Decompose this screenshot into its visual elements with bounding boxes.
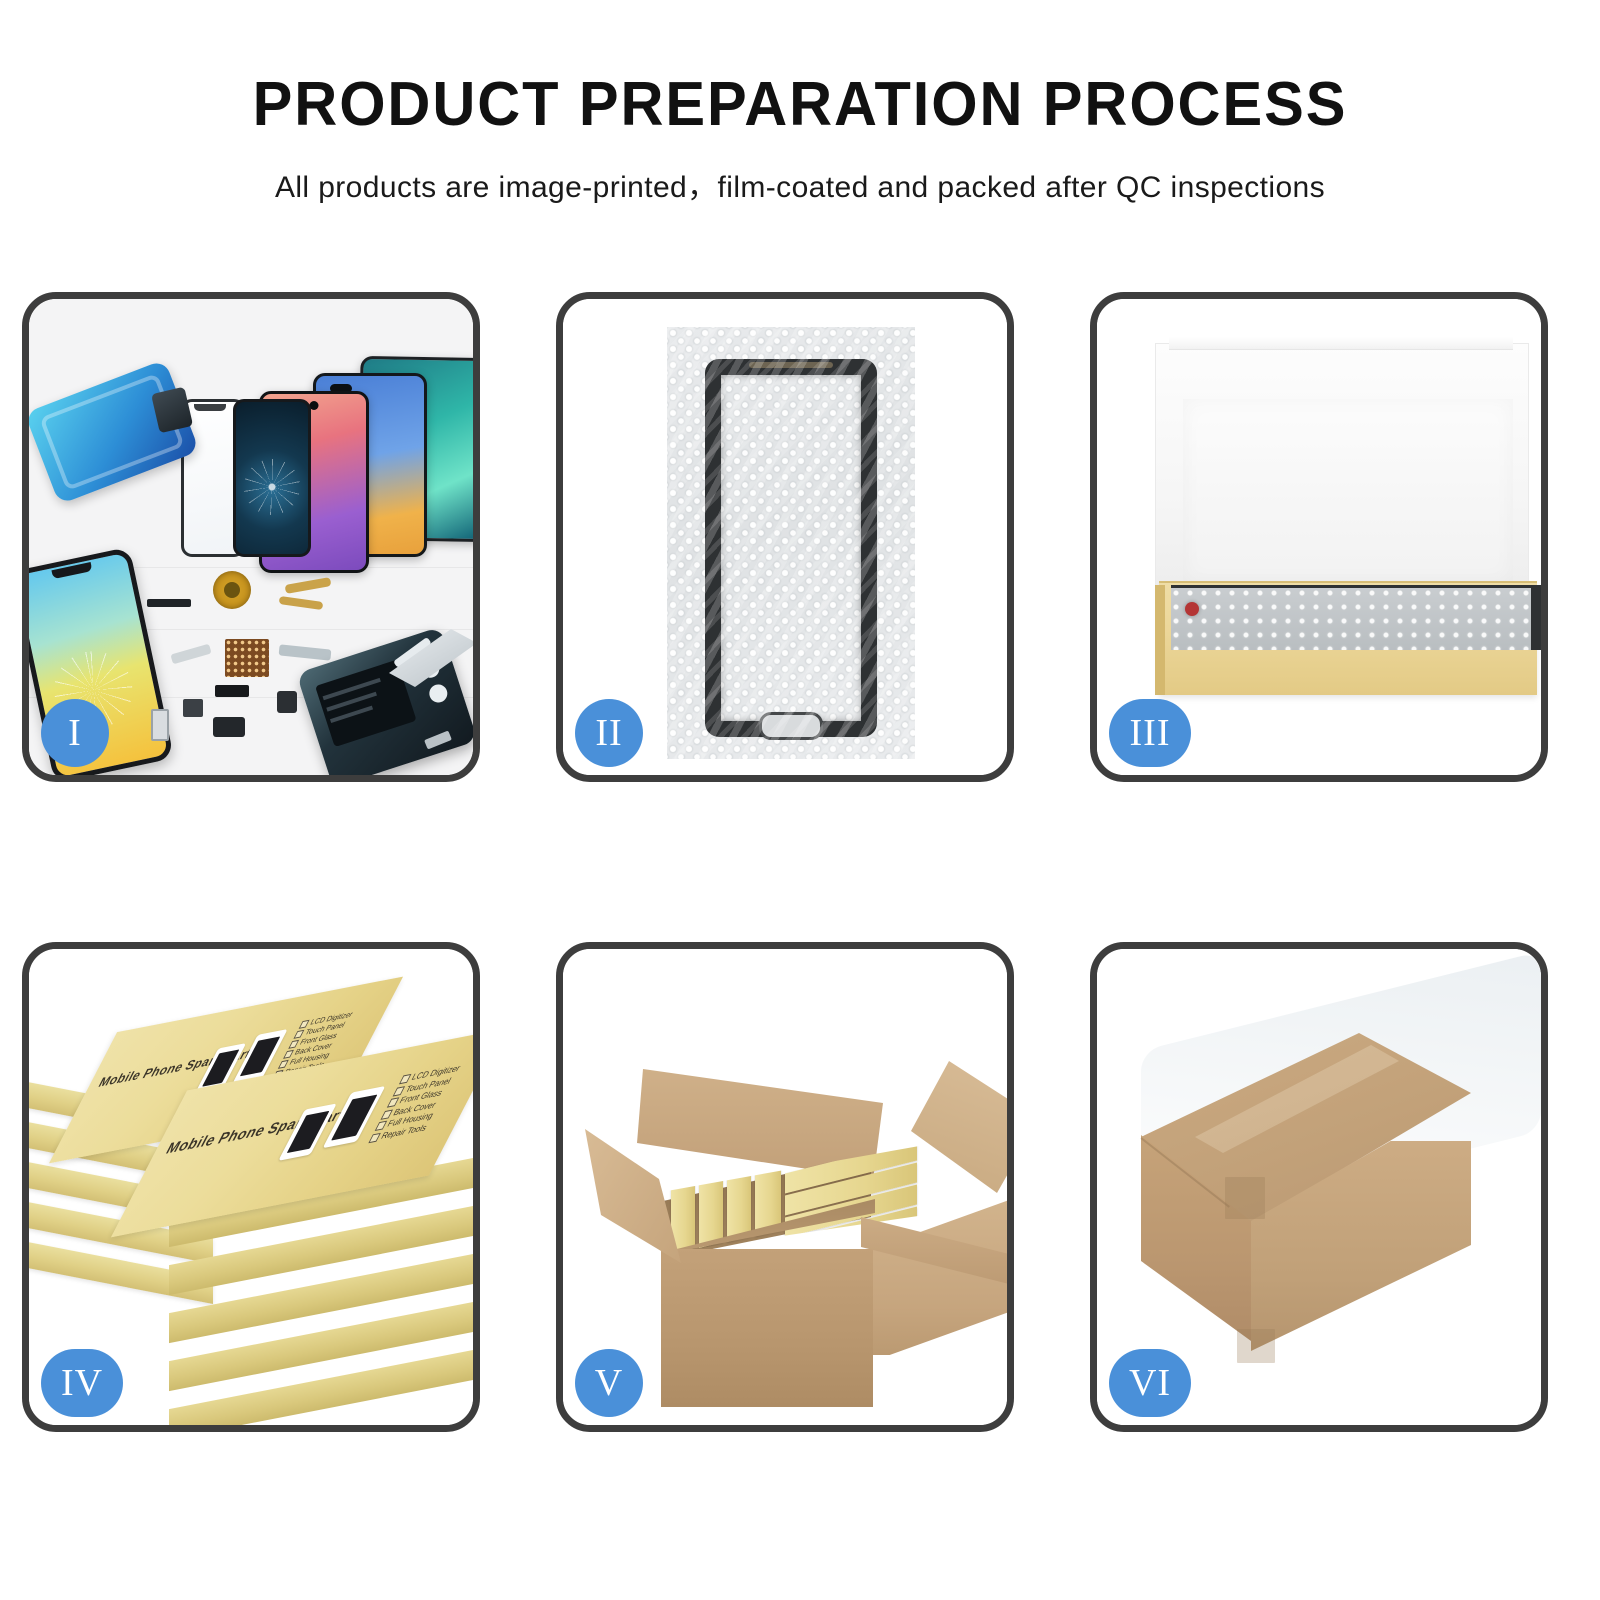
panel-5-photo [563, 949, 1007, 1425]
bubble-wrapped-screen-scene [563, 299, 1007, 775]
page-header: PRODUCT PREPARATION PROCESS All products… [0, 0, 1600, 206]
bubble-wrap-sheet [667, 327, 915, 759]
open-shipping-carton-scene [563, 949, 1007, 1425]
process-step-panel-3[interactable]: III [1090, 292, 1548, 782]
carton-flap-left [585, 1129, 681, 1263]
step-badge-5: V [575, 1349, 643, 1417]
step-badge-4: IV [41, 1349, 123, 1417]
wrapped-screen-in-box [1171, 585, 1541, 650]
part-flex-right [279, 644, 332, 660]
part-speaker-bar [147, 599, 191, 607]
step-badge-1: I [41, 699, 109, 767]
part-flex-left [170, 644, 211, 665]
part-flex-cable-top2 [279, 596, 324, 610]
foam-insert [1183, 399, 1513, 583]
process-step-panel-1[interactable]: I [22, 292, 480, 782]
part-ic-chip-grid [225, 639, 269, 677]
carton-front-face [661, 1249, 873, 1407]
step-badge-3: III [1109, 699, 1191, 767]
mailer-lid-tab [1169, 337, 1513, 350]
page-subtitle: All products are image-printed，film-coat… [0, 136, 1600, 206]
adhesive-frame-blue [29, 359, 200, 504]
process-step-panel-6[interactable]: VI [1090, 942, 1548, 1432]
phone-parts-collage-scene [29, 299, 473, 775]
home-button-cutout [759, 712, 823, 740]
carton-tab-upper [1225, 1177, 1265, 1219]
panel-1-photo [29, 299, 473, 775]
part-taptic-engine [213, 717, 245, 737]
screen-frame [705, 359, 877, 737]
carton-tab-lower [1237, 1329, 1275, 1363]
mailer-tray-left-edge [1155, 585, 1165, 695]
step-badge-2: II [575, 699, 643, 767]
step-badge-6: VI [1109, 1349, 1191, 1417]
part-battery-connector [215, 685, 249, 697]
carton-flap-right [911, 1061, 1007, 1193]
part-camera-module [277, 691, 297, 713]
part-flex-cable-top [285, 577, 332, 594]
process-step-panel-5[interactable]: V [556, 942, 1014, 1432]
process-step-grid: I II [22, 292, 1578, 1432]
process-step-panel-4[interactable]: Mobile Phone Spare Parts LCD Digitizer T… [22, 942, 480, 1432]
panel-2-photo [563, 299, 1007, 775]
process-step-panel-2[interactable]: II [556, 292, 1014, 782]
red-marker-dot [1185, 602, 1199, 616]
page-title: PRODUCT PREPARATION PROCESS [32, 74, 1568, 136]
part-wireless-coil [213, 571, 251, 609]
part-sim-tray [151, 709, 169, 741]
part-bracket [183, 699, 203, 717]
cracked-dark-screen [233, 399, 311, 557]
